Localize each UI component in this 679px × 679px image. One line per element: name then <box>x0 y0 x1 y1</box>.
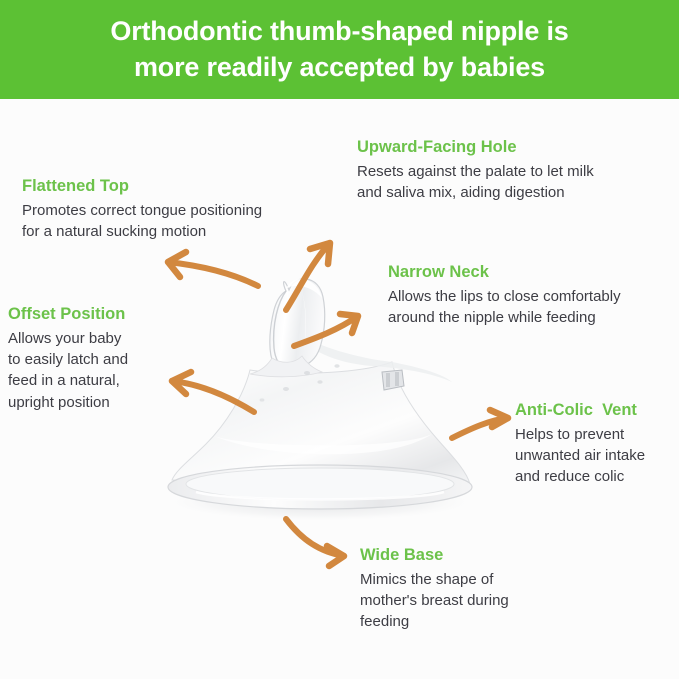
callout-body: Resets against the palate to let milk an… <box>357 161 657 204</box>
arrow-to-anti-colic-vent <box>452 410 508 438</box>
arrow-to-narrow-neck <box>294 314 358 346</box>
narrow-neck <box>250 356 322 377</box>
anti-colic-vent-nub <box>382 370 404 390</box>
callout-anti-colic-vent: Anti-Colic Vent Helps to prevent unwante… <box>515 400 679 488</box>
callout-body: Allows the lips to close comfortably aro… <box>388 286 668 329</box>
teat-left-contour <box>274 291 286 370</box>
callout-body: Mimics the shape of mother's breast duri… <box>360 569 560 633</box>
wide-base-rim-inner <box>186 468 454 500</box>
callout-wide-base: Wide Base Mimics the shape of mother's b… <box>360 545 560 633</box>
teat-thumb-shape <box>270 279 325 371</box>
infographic-page: Orthodontic thumb-shaped nipple is more … <box>0 0 679 679</box>
arrow-to-wide-base <box>286 519 344 566</box>
flattened-top-surface <box>286 279 322 298</box>
callout-narrow-neck: Narrow Neck Allows the lips to close com… <box>388 262 668 328</box>
page-title: Orthodontic thumb-shaped nipple is more … <box>20 14 660 84</box>
callout-title: Upward-Facing Hole <box>357 137 657 158</box>
callout-upward-facing-hole: Upward-Facing Hole Resets against the pa… <box>357 137 657 203</box>
surface-dimple <box>260 398 265 401</box>
dome-highlight <box>214 434 432 454</box>
upward-facing-hole <box>297 284 303 288</box>
callout-title: Anti-Colic Vent <box>515 400 679 421</box>
callout-title: Offset Position <box>8 304 188 325</box>
wide-base-dome <box>172 362 470 484</box>
arrow-to-upward-facing-hole <box>286 243 330 310</box>
product-shadow <box>160 482 480 522</box>
header-banner: Orthodontic thumb-shaped nipple is more … <box>0 0 679 99</box>
surface-dimple <box>334 364 339 368</box>
callout-body: Promotes correct tongue positioning for … <box>22 200 322 243</box>
rim-highlight <box>196 492 444 500</box>
callout-flattened-top: Flattened Top Promotes correct tongue po… <box>22 176 322 242</box>
shoulder-edge <box>296 332 452 382</box>
teat-highlight <box>300 286 306 352</box>
callout-title: Flattened Top <box>22 176 322 197</box>
surface-dimple <box>283 387 289 391</box>
callout-body: Helps to prevent unwanted air intake and… <box>515 424 679 488</box>
callout-title: Narrow Neck <box>388 262 668 283</box>
callout-offset-position: Offset Position Allows your baby to easi… <box>8 304 188 413</box>
callout-title: Wide Base <box>360 545 560 566</box>
wide-base-rim <box>168 465 472 509</box>
arrow-to-flattened-top <box>168 252 258 286</box>
callout-body: Allows your baby to easily latch and fee… <box>8 328 188 413</box>
surface-dimple <box>304 371 310 375</box>
surface-dimple <box>317 380 322 384</box>
